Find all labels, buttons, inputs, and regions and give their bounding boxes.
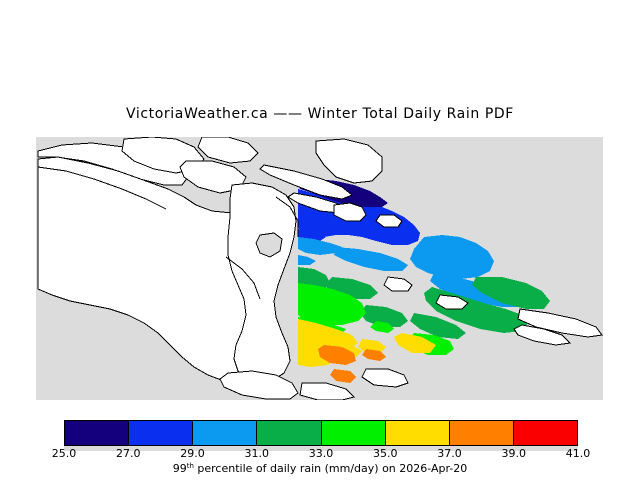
colorbar-segment-1[interactable] [129,421,193,445]
page-title: VictoriaWeather.ca —— Winter Total Daily… [0,106,640,122]
colorbar-tick-4: 33.0 [309,447,334,460]
map-panel[interactable] [36,137,603,400]
colorbar-caption-superscript: th [187,462,194,470]
colorbar-tick-labels: 25.0 27.0 29.0 31.0 33.0 35.0 37.0 39.0 … [64,447,578,463]
colorbar-segment-6[interactable] [450,421,514,445]
colorbar-caption: 99th percentile of daily rain (mm/day) o… [0,462,640,475]
weather-map-page: VictoriaWeather.ca —— Winter Total Daily… [0,0,640,480]
colorbar-tick-5: 35.0 [373,447,398,460]
colorbar-tick-2: 29.0 [180,447,205,460]
colorbar-tick-1: 27.0 [116,447,141,460]
colorbar-caption-prefix: 99 [173,462,187,475]
colorbar-caption-rest: percentile of daily rain (mm/day) on 202… [194,462,467,475]
colorbar-tick-7: 39.0 [502,447,527,460]
colorbar[interactable] [64,420,578,446]
colorbar-tick-3: 31.0 [245,447,270,460]
colorbar-tick-0: 25.0 [52,447,77,460]
colorbar-tick-6: 37.0 [437,447,462,460]
colorbar-segment-4[interactable] [322,421,386,445]
colorbar-segment-2[interactable] [193,421,257,445]
colorbar-segment-5[interactable] [386,421,450,445]
map-canvas[interactable] [36,137,603,400]
colorbar-tick-8: 41.0 [566,447,591,460]
colorbar-segment-3[interactable] [257,421,321,445]
colorbar-segment-7[interactable] [514,421,577,445]
colorbar-segment-0[interactable] [65,421,129,445]
colorbar-area: 25.0 27.0 29.0 31.0 33.0 35.0 37.0 39.0 … [0,415,640,480]
